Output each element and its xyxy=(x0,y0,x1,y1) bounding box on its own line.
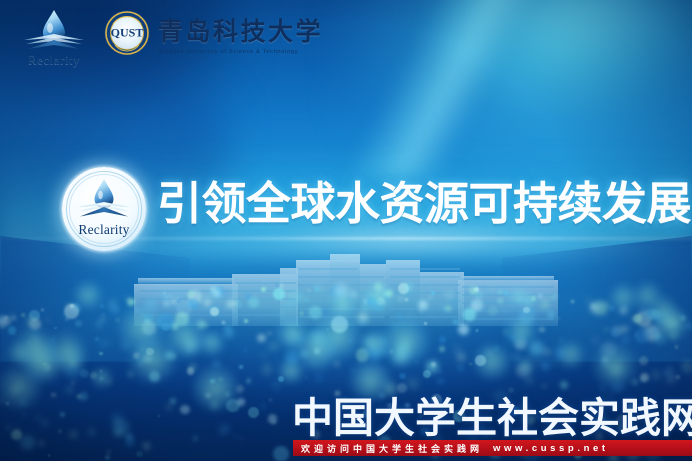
svg-text:QUST: QUST xyxy=(111,26,144,40)
qust-seal-icon: QUST xyxy=(103,9,151,57)
site-url-banner: 欢迎访问中国大学生社会实践网 www.cussp.net xyxy=(293,440,692,456)
university-name-cn: 青岛科技大学 xyxy=(158,12,318,48)
university-name-en: Qingdao University of Science & Technolo… xyxy=(158,49,318,55)
reclarity-wordmark: Reclarity xyxy=(18,52,90,68)
reclarity-emblem: Reclarity xyxy=(62,167,146,251)
banner-url-text: www.cussp.net xyxy=(483,443,609,454)
reclarity-logo: Reclarity xyxy=(18,8,90,70)
header-bar: Reclarity QUST 青岛 xyxy=(0,0,692,82)
presentation-slide: Reclarity QUST 青岛 xyxy=(0,0,692,461)
university-name: 青岛科技大学 Qingdao University of Science & T… xyxy=(158,12,318,55)
emblem-label: Reclarity xyxy=(62,222,146,238)
banner-welcome-text: 欢迎访问中国大学生社会实践网 xyxy=(293,442,483,455)
hero-slogan: 引领全球水资源可持续发展 xyxy=(157,178,691,230)
site-watermark: 中国大学生社会实践网 xyxy=(292,396,692,440)
water-drop-logo-icon xyxy=(18,8,90,54)
